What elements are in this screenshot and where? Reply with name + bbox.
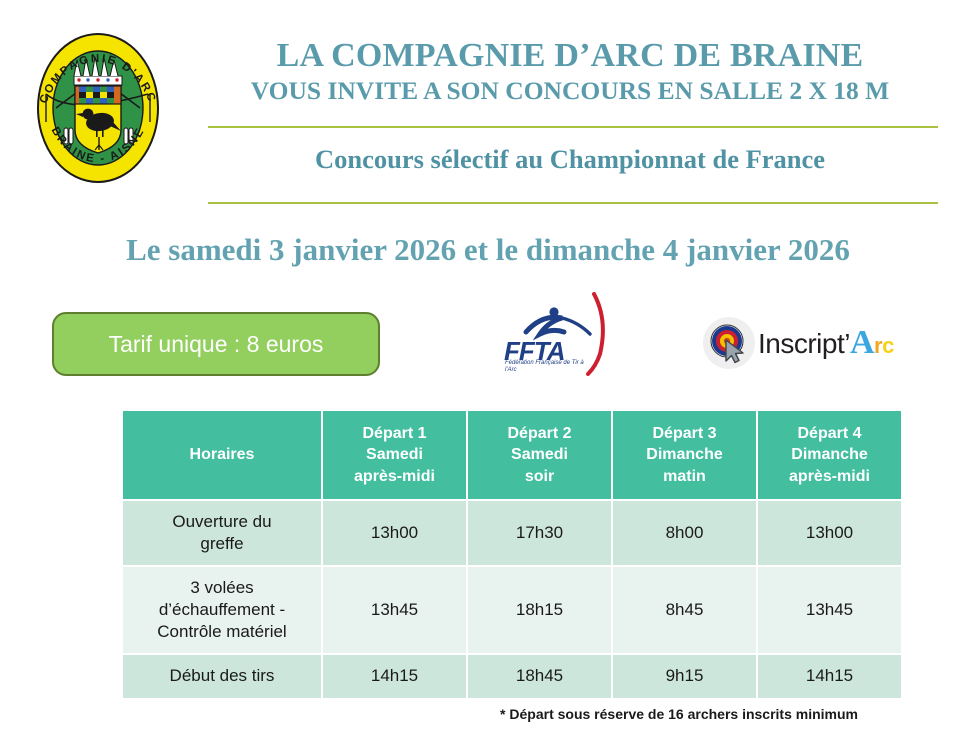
poster-header: COMPAGNIE D'ARC BRAINE - AISNE LA COMPAG… [0, 0, 976, 210]
divider-top [208, 126, 938, 128]
table-cell-row-label: 3 voléesd’échauffement -Contrôle matérie… [123, 567, 321, 653]
table-cell-time: 13h45 [323, 567, 466, 653]
table-cell-time: 8h00 [613, 501, 756, 565]
inscriptarc-word-inscript: Inscript’ [758, 328, 850, 359]
selection-subtitle: Concours sélectif au Championnat de Fran… [190, 144, 950, 175]
table-cell-line: greffe [129, 533, 315, 555]
ffta-logo: FFTA Fédération Française de Tir à l’Arc [496, 292, 616, 378]
table-header-line: Dimanche [762, 444, 897, 465]
table-cell-time: 8h45 [613, 567, 756, 653]
club-logo: COMPAGNIE D'ARC BRAINE - AISNE [22, 24, 174, 192]
table-cell-time: 18h45 [468, 655, 611, 697]
page-title: LA COMPAGNIE D’ARC DE BRAINE [190, 36, 950, 75]
table-body: Ouverture dugreffe13h0017h308h0013h003 v… [123, 501, 901, 698]
table-cell-line: Ouverture du [129, 511, 315, 533]
table-header-line: après-midi [762, 466, 897, 487]
table-header-line: matin [617, 466, 752, 487]
table-cell-line: 3 volées [129, 577, 315, 599]
table-header-line: soir [472, 466, 607, 487]
table-cell-time: 13h45 [758, 567, 901, 653]
table-header-cell-depart-2: Départ 2Samedisoir [468, 411, 611, 499]
table-header-cell-horaires: Horaires [123, 411, 321, 499]
target-cursor-icon [702, 316, 756, 370]
poster-title-block: LA COMPAGNIE D’ARC DE BRAINE VOUS INVITE… [190, 36, 950, 107]
inscriptarc-letter-c: c [882, 333, 894, 358]
table-cell-time: 17h30 [468, 501, 611, 565]
table-cell-time: 9h15 [613, 655, 756, 697]
tarif-label: Tarif unique : 8 euros [109, 331, 324, 358]
club-logo-emblem: COMPAGNIE D'ARC BRAINE - AISNE [22, 24, 174, 192]
table-cell-row-label: Début des tirs [123, 655, 321, 697]
table-row: Ouverture dugreffe13h0017h308h0013h00 [123, 501, 901, 565]
table-header-line: Samedi [327, 444, 462, 465]
table-header-line: Départ 1 [327, 423, 462, 444]
table-header-line: après-midi [327, 466, 462, 487]
table-cell-time: 14h15 [758, 655, 901, 697]
page-subtitle: VOUS INVITE A SON CONCOURS EN SALLE 2 X … [190, 76, 950, 107]
table-cell-time: 13h00 [758, 501, 901, 565]
table-cell-time: 14h15 [323, 655, 466, 697]
table-header-cell-depart-3: Départ 3Dimanchematin [613, 411, 756, 499]
event-date: Le samedi 3 janvier 2026 et le dimanche … [0, 232, 976, 268]
table-header-line: Dimanche [617, 444, 752, 465]
divider-bottom [208, 202, 938, 204]
inscriptarc-wordmark: Inscript’Arc [758, 324, 894, 362]
table-row: Début des tirs14h1518h459h1514h15 [123, 655, 901, 697]
table-footnote: * Départ sous réserve de 16 archers insc… [0, 706, 858, 722]
inscriptarc-letter-a: A [850, 324, 874, 361]
ffta-subtitle: Fédération Française de Tir à l’Arc [505, 360, 595, 374]
table-header-line: Départ 2 [472, 423, 607, 444]
schedule-table: Horaires Départ 1Samediaprès-midi Départ… [121, 409, 903, 700]
table-header-line: Départ 3 [617, 423, 752, 444]
table-cell-line: Début des tirs [129, 665, 315, 687]
table-header-row: Horaires Départ 1Samediaprès-midi Départ… [123, 411, 901, 499]
table-cell-time: 18h15 [468, 567, 611, 653]
table-row: 3 voléesd’échauffement -Contrôle matérie… [123, 567, 901, 653]
table-header-line: Départ 4 [762, 423, 897, 444]
table-cell-line: d’échauffement - [129, 599, 315, 621]
table-header-cell-depart-1: Départ 1Samediaprès-midi [323, 411, 466, 499]
inscriptarc-logo: Inscript’Arc [702, 312, 912, 374]
table-cell-row-label: Ouverture dugreffe [123, 501, 321, 565]
tarif-badge: Tarif unique : 8 euros [52, 312, 380, 376]
table-header-cell-depart-4: Départ 4Dimancheaprès-midi [758, 411, 901, 499]
inscriptarc-letter-r: r [874, 333, 882, 358]
table-header-line: Horaires [127, 444, 317, 465]
table-cell-line: Contrôle matériel [129, 621, 315, 643]
table-header-line: Samedi [472, 444, 607, 465]
table-cell-time: 13h00 [323, 501, 466, 565]
